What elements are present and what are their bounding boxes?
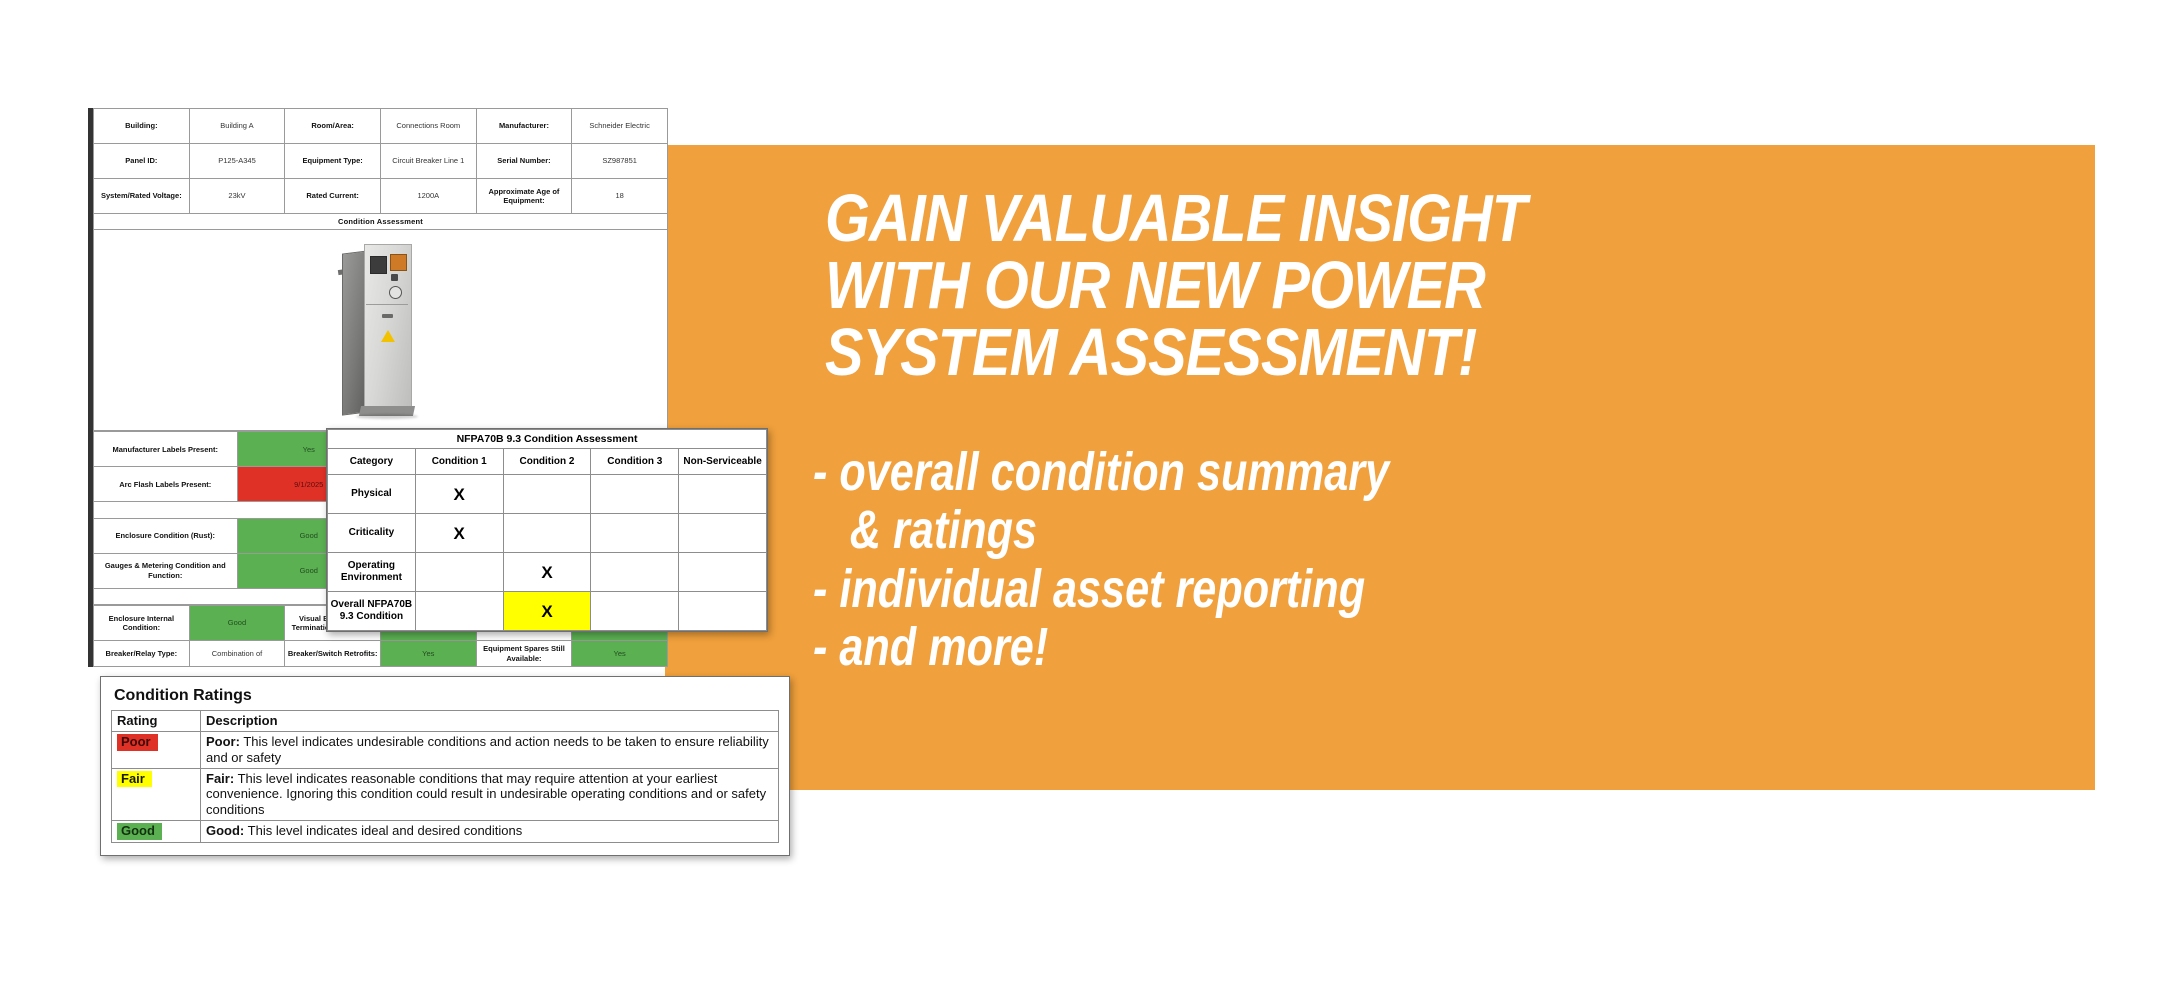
nfpa-mark [679,553,767,592]
section-band-row: Condition Assessment [94,214,668,230]
info-value: 18 [572,179,668,214]
table-row: Overall NFPA70B 9.3 Condition X [328,592,767,631]
rating-cell: Fair [112,768,201,821]
nfpa-category: Overall NFPA70B 9.3 Condition [328,592,416,631]
info-label: Serial Number: [476,144,572,179]
switchgear-control-panel [390,254,407,271]
bullet-item-3: - and more! [813,618,1805,676]
equipment-photo-cell [93,230,668,431]
ratings-header-row: Rating Description [112,711,779,732]
nfpa-col-condition-2: Condition 2 [503,449,591,475]
nfpa-category: Physical [328,475,416,514]
info-label: System/Rated Voltage: [94,179,190,214]
bullet-item-1: - overall condition summary [813,443,1805,501]
ratings-col-description: Description [201,711,779,732]
nfpa-col-non-serviceable: Non-Serviceable [679,449,767,475]
nfpa-mark [679,475,767,514]
condition-ratings-card: Condition Ratings Rating Description Poo… [100,676,790,856]
rating-text-good: This level indicates ideal and desired c… [248,823,523,838]
promo-bullet-list: - overall condition summary & ratings - … [813,443,1805,676]
nfpa-mark [679,514,767,553]
bottom-label: Enclosure Internal Condition: [94,606,190,641]
status-badge-fair: Fair [117,771,152,788]
switchgear-display-panel [370,256,387,274]
assess-label: Enclosure Condition (Rust): [94,518,238,553]
nfpa-col-category: Category [328,449,416,475]
bottom-label: Breaker/Relay Type: [94,641,190,667]
nfpa-category: Operating Environment [328,553,416,592]
bottom-label: Equipment Spares Still Available: [476,641,572,667]
table-row: Criticality X [328,514,767,553]
info-value: 23kV [189,179,285,214]
section-band-label: Condition Assessment [94,214,668,230]
assess-label: Arc Flash Labels Present: [94,467,238,502]
info-value: Building A [189,109,285,144]
info-label: Rated Current: [285,179,381,214]
nfpa-mark [415,553,503,592]
rating-description: Good: This level indicates ideal and des… [201,821,779,843]
rating-lead-fair: Fair: [206,771,234,786]
document-stack: Building: Building A Room/Area: Connecti… [0,0,840,1000]
headline-line-2: WITH OUR NEW POWER [825,252,1840,319]
headline-line-1: GAIN VALUABLE INSIGHT [825,185,1840,252]
switchgear-handle [382,314,393,318]
nfpa-mark [503,475,591,514]
condition-ratings-table: Rating Description Poor Poor: This level… [111,710,779,843]
nfpa-mark: X [415,475,503,514]
nfpa70b-assessment-card: NFPA70B 9.3 Condition Assessment Categor… [326,428,768,632]
table-row: Poor Poor: This level indicates undesira… [112,731,779,768]
nfpa-col-condition-3: Condition 3 [591,449,679,475]
bullet-item-1-cont: & ratings [813,501,1805,559]
assess-label: Gauges & Metering Condition and Function… [94,553,238,588]
nfpa-mark [415,592,503,631]
rating-text-poor: This level indicates undesirable conditi… [206,734,769,765]
rating-description: Fair: This level indicates reasonable co… [201,768,779,821]
info-value: Circuit Breaker Line 1 [380,144,476,179]
table-row: Operating Environment X [328,553,767,592]
info-label: Manufacturer: [476,109,572,144]
info-value: 1200A [380,179,476,214]
status-badge-good: Good [117,823,162,840]
nfpa-mark [591,592,679,631]
nfpa-mark [679,592,767,631]
promo-headline: GAIN VALUABLE INSIGHT WITH OUR NEW POWER… [825,185,1840,386]
bottom-value: Combination of [189,641,285,667]
condition-ratings-title: Condition Ratings [114,687,779,705]
switchgear-icon [338,238,424,420]
bottom-label: Breaker/Switch Retrofits: [285,641,381,667]
bottom-value-status: Good [189,606,285,641]
table-row: Building: Building A Room/Area: Connecti… [94,109,668,144]
table-row: Panel ID: P125-A345 Equipment Type: Circ… [94,144,668,179]
status-badge-poor: Poor [117,734,158,751]
nfpa-mark: X [503,553,591,592]
info-label: Room/Area: [285,109,381,144]
info-label: Building: [94,109,190,144]
headline-line-3: SYSTEM ASSESSMENT! [825,319,1840,386]
table-row: Fair Fair: This level indicates reasonab… [112,768,779,821]
nfpa-header-row: Category Condition 1 Condition 2 Conditi… [328,449,767,475]
bottom-value-status: Yes [572,641,668,667]
info-label: Panel ID: [94,144,190,179]
switchgear-gauge [389,286,402,299]
promo-panel: GAIN VALUABLE INSIGHT WITH OUR NEW POWER… [665,145,2095,790]
switchgear-seam [366,304,408,305]
switchgear-shadow [356,414,418,419]
switchgear-button [391,274,398,281]
table-row: System/Rated Voltage: 23kV Rated Current… [94,179,668,214]
assess-label: Manufacturer Labels Present: [94,432,238,467]
bullet-item-2: - individual asset reporting [813,560,1805,618]
warning-triangle-icon [381,330,395,342]
bottom-value-status: Yes [380,641,476,667]
rating-cell: Good [112,821,201,843]
info-value: Connections Room [380,109,476,144]
nfpa-title: NFPA70B 9.3 Condition Assessment [328,430,767,449]
rating-cell: Poor [112,731,201,768]
info-value: Schneider Electric [572,109,668,144]
rating-description: Poor: This level indicates undesirable c… [201,731,779,768]
nfpa-mark [591,475,679,514]
table-row: Breaker/Relay Type: Combination of Break… [94,641,668,667]
info-label: Approximate Age of Equipment: [476,179,572,214]
info-value: P125-A345 [189,144,285,179]
rating-lead-poor: Poor: [206,734,240,749]
ratings-col-rating: Rating [112,711,201,732]
nfpa-mark-highlighted: X [503,592,591,631]
nfpa70b-table: NFPA70B 9.3 Condition Assessment Categor… [327,429,767,631]
info-value: SZ987851 [572,144,668,179]
table-row: Physical X [328,475,767,514]
nfpa-col-condition-1: Condition 1 [415,449,503,475]
nfpa-mark [591,514,679,553]
info-label: Equipment Type: [285,144,381,179]
nfpa-mark: X [415,514,503,553]
nfpa-mark [503,514,591,553]
nfpa-mark [591,553,679,592]
rating-lead-good: Good: [206,823,244,838]
nfpa-category: Criticality [328,514,416,553]
nfpa-title-row: NFPA70B 9.3 Condition Assessment [328,430,767,449]
rating-text-fair: This level indicates reasonable conditio… [206,771,766,818]
table-row: Good Good: This level indicates ideal an… [112,821,779,843]
equipment-info-table: Building: Building A Room/Area: Connecti… [93,108,668,230]
